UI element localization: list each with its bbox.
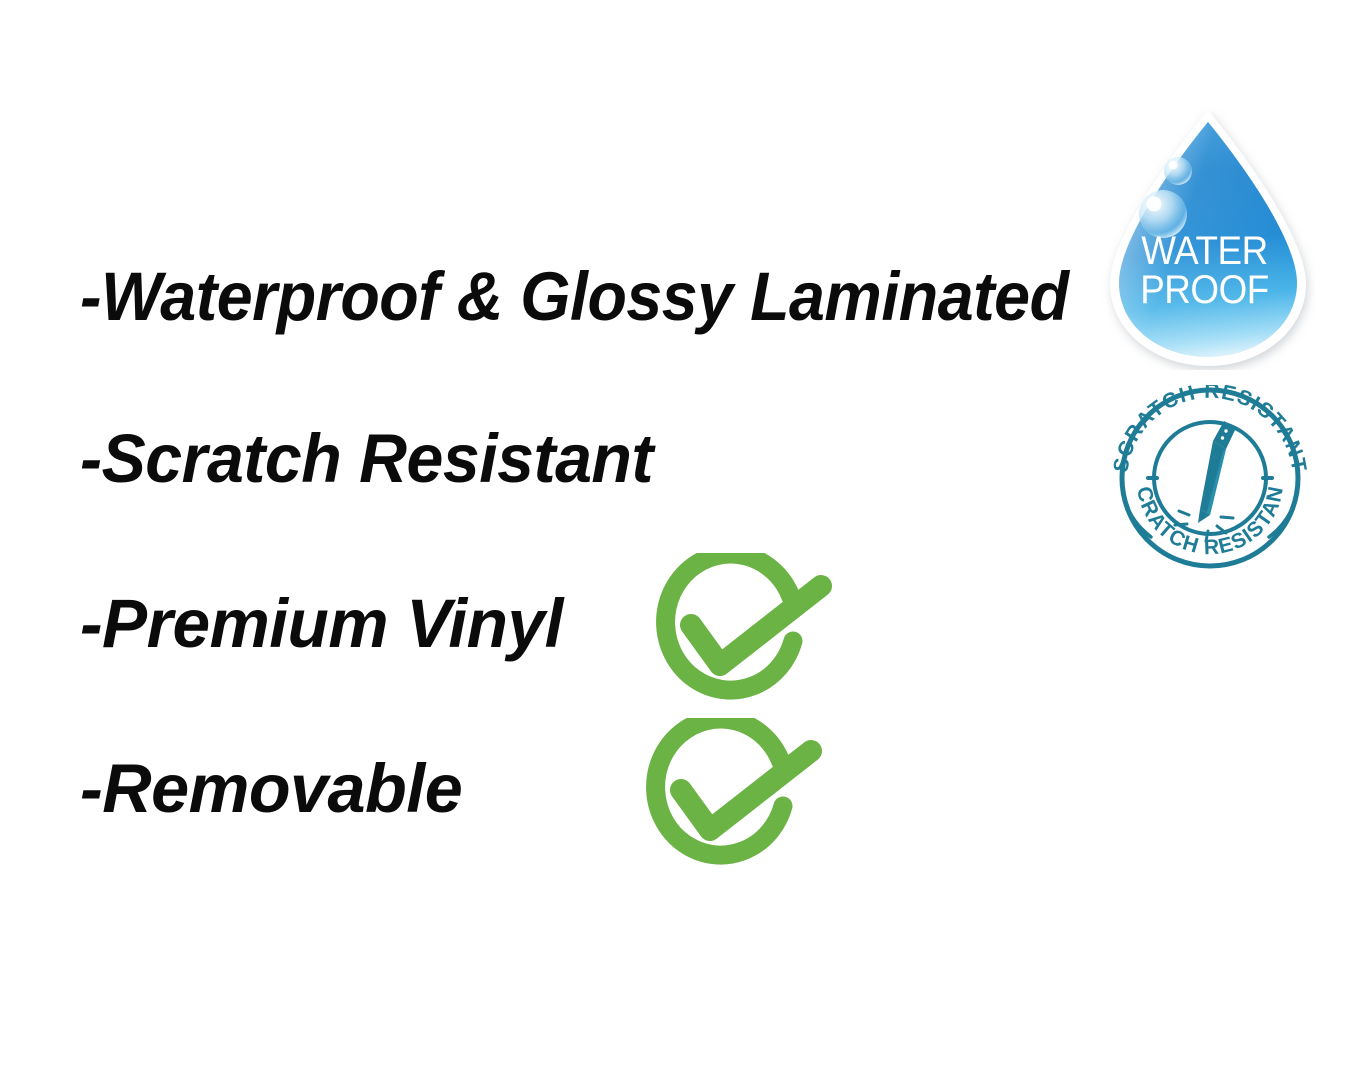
feature-item-scratch-resistant: -Scratch Resistant (80, 424, 653, 493)
check-circle-icon (641, 553, 837, 703)
feature-item-waterproof-glossy-laminated: -Waterproof & Glossy Laminated (80, 262, 1069, 331)
check-circle-icon (631, 718, 827, 868)
check-circle-removable (631, 718, 827, 868)
scratch-resistant-badge: SCRATCH RESISTANT SCRATCH RESISTANT (1105, 385, 1315, 570)
bubble-small-glint (1169, 161, 1178, 170)
feature-item-removable: -Removable (80, 754, 462, 823)
water-drop-icon (1100, 108, 1315, 370)
bubble-large-glint (1147, 197, 1162, 212)
feature-item-premium-vinyl: -Premium Vinyl (80, 589, 563, 658)
product-features-graphic: -Waterproof & Glossy Laminated -Scratch … (0, 0, 1359, 1080)
check-circle-premium-vinyl (641, 553, 837, 703)
check-tick (681, 751, 811, 830)
waterproof-badge: WATER PROOF (1100, 108, 1315, 370)
bubble-large-icon (1139, 190, 1187, 238)
bubble-small-icon (1164, 157, 1192, 185)
check-tick (691, 586, 821, 665)
knife-icon (1198, 421, 1236, 523)
drop-highlight (1119, 122, 1297, 357)
scratch-resistant-stamp-icon: SCRATCH RESISTANT SCRATCH RESISTANT (1105, 385, 1315, 570)
